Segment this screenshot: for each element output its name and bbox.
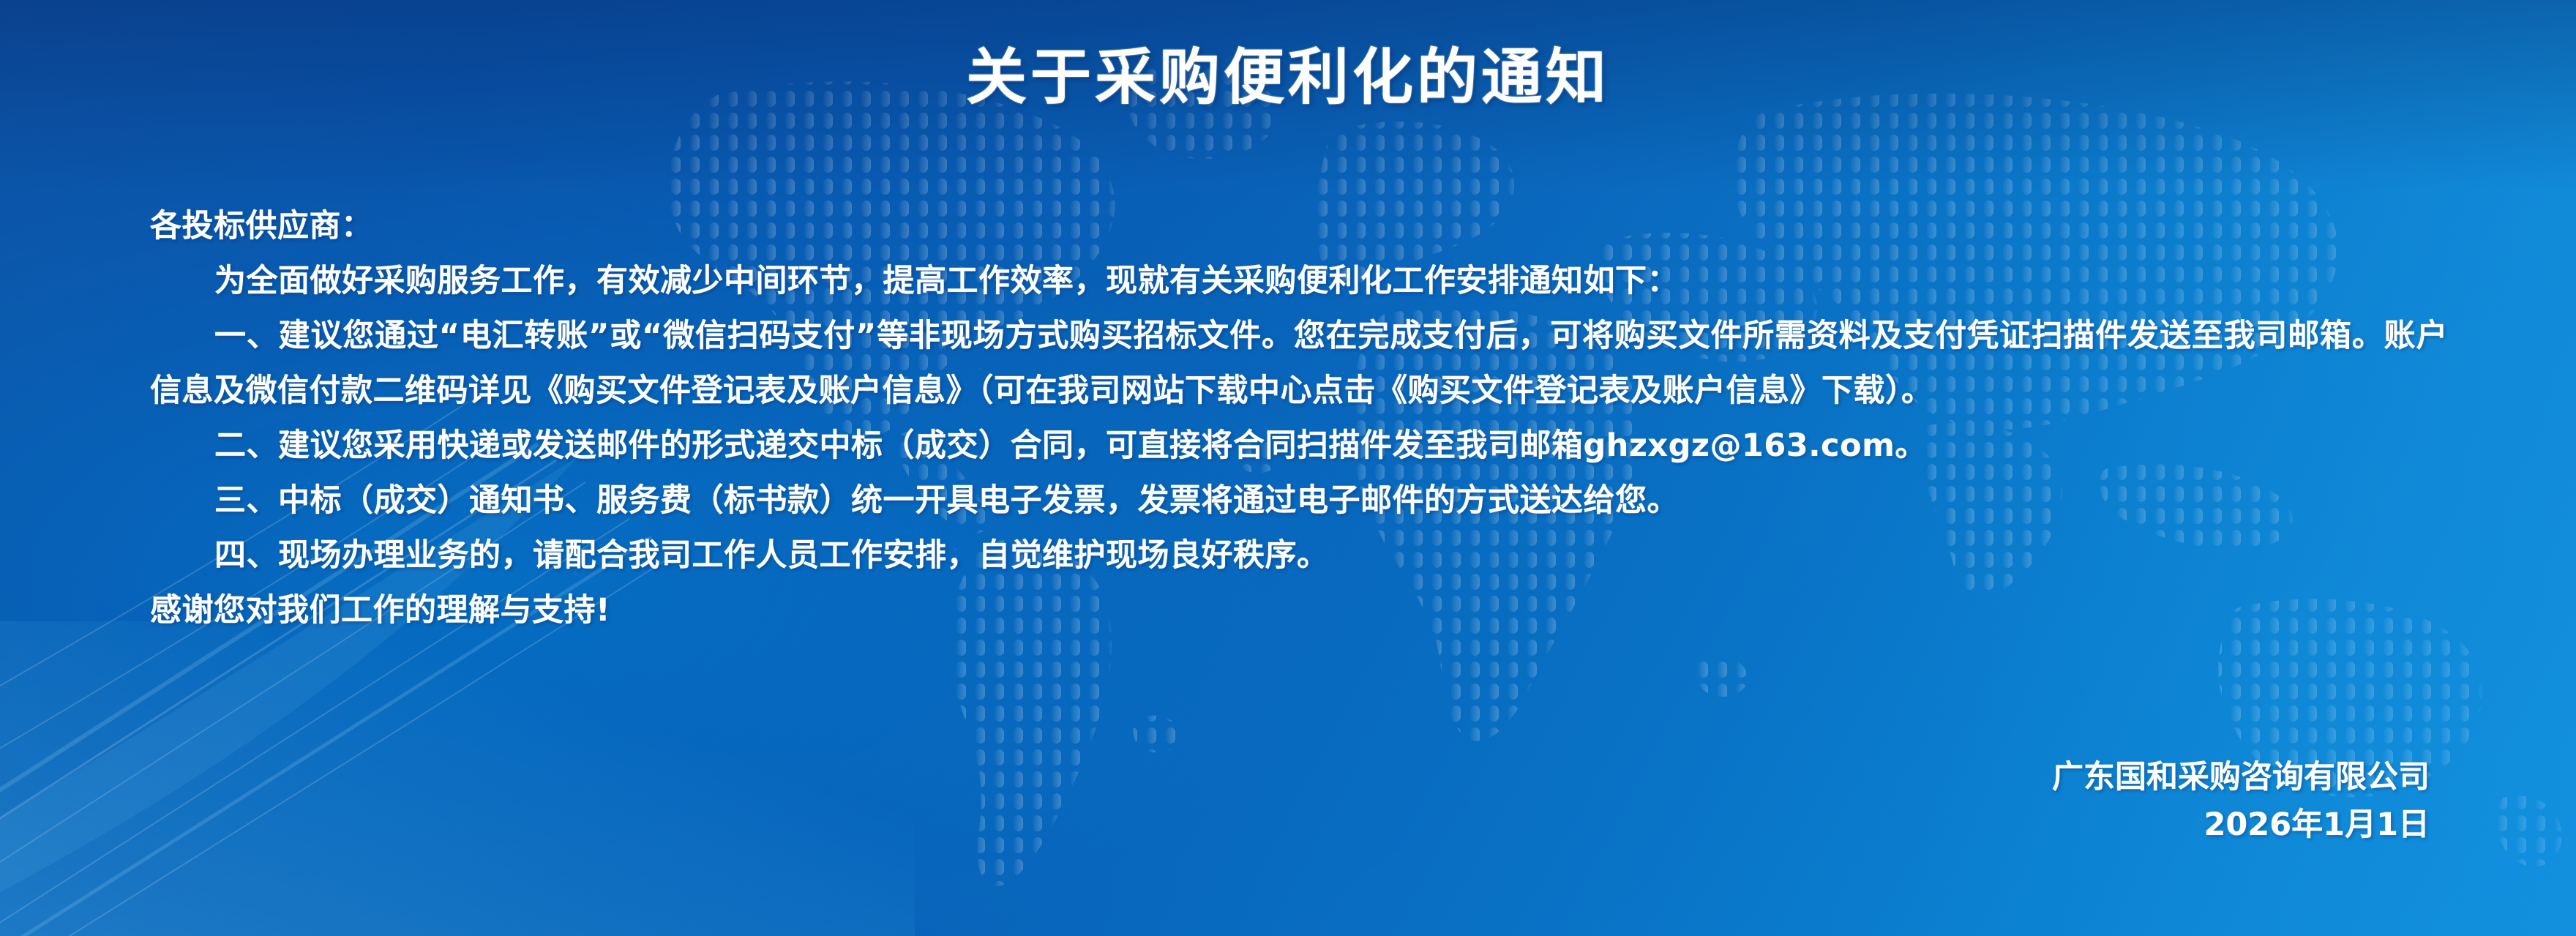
- notice-body: 各投标供应商： 为全面做好采购服务工作，有效减少中间环节，提高工作效率，现就有关…: [150, 199, 2448, 638]
- closing-thanks: 感谢您对我们工作的理解与支持!: [150, 583, 2448, 638]
- notice-banner: 关于采购便利化的通知 各投标供应商： 为全面做好采购服务工作，有效减少中间环节，…: [0, 0, 2576, 936]
- paragraph-item-2: 二、建议您采用快递或发送邮件的形式递交中标（成交）合同，可直接将合同扫描件发至我…: [150, 419, 2448, 473]
- company-name: 广东国和采购咨询有限公司: [2052, 754, 2430, 801]
- notice-date: 2026年1月1日: [2052, 801, 2430, 849]
- paragraph-item-3: 三、中标（成交）通知书、服务费（标书款）统一开具电子发票，发票将通过电子邮件的方…: [150, 473, 2448, 528]
- page-title: 关于采购便利化的通知: [0, 28, 2576, 116]
- signature-block: 广东国和采购咨询有限公司 2026年1月1日: [2052, 754, 2430, 849]
- paragraph-item-1: 一、建议您通过“电汇转账”或“微信扫码支付”等非现场方式购买招标文件。您在完成支…: [150, 309, 2448, 419]
- salutation: 各投标供应商：: [150, 199, 2448, 254]
- paragraph-item-4: 四、现场办理业务的，请配合我司工作人员工作安排，自觉维护现场良好秩序。: [150, 528, 2448, 583]
- paragraph-intro: 为全面做好采购服务工作，有效减少中间环节，提高工作效率，现就有关采购便利化工作安…: [150, 254, 2448, 309]
- notice-content: 关于采购便利化的通知 各投标供应商： 为全面做好采购服务工作，有效减少中间环节，…: [0, 0, 2576, 936]
